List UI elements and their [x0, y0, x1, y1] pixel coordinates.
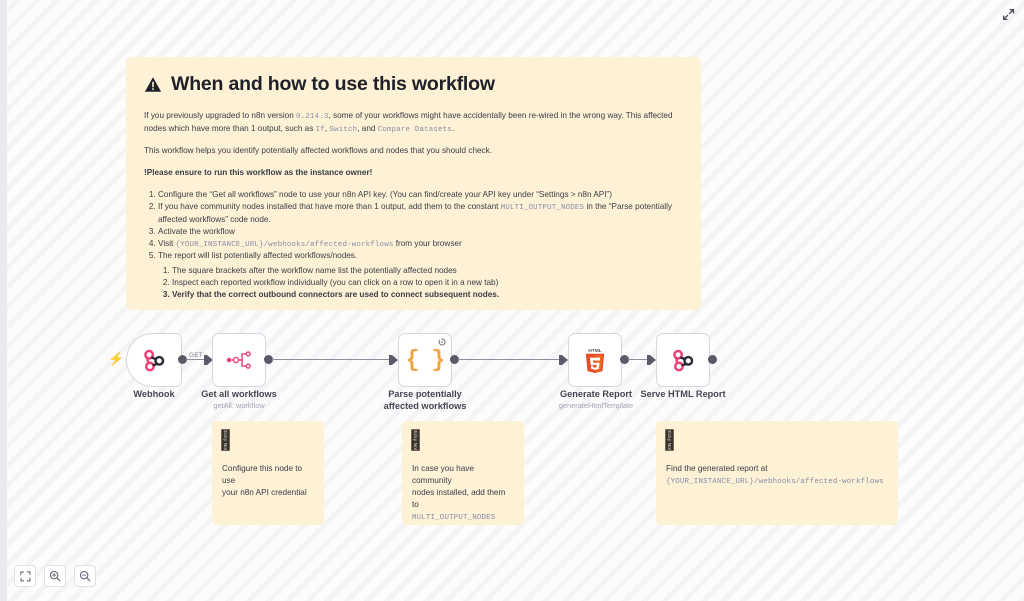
notice-substep-3-text: Verify that the correct outbound connect…: [172, 290, 499, 299]
notice-p1-sep2: , and: [357, 124, 378, 133]
webhook-icon: [670, 347, 696, 373]
code-version: 0.214.3: [296, 113, 328, 121]
notice-substeps-list: The square brackets after the workflow n…: [158, 265, 683, 301]
notice-step-5-text: The report will list potentially affecte…: [158, 251, 357, 260]
warning-triangle-icon: [144, 76, 162, 93]
node-parse-potentially-affected-workflows[interactable]: { }: [398, 333, 452, 387]
webhook-icon: [141, 347, 167, 373]
notice-step-4-text-a: Visit: [158, 239, 176, 248]
sticky-note-api-credential[interactable]: Sticky Note Configure this node to use y…: [212, 421, 324, 525]
code-braces-icon: { }: [406, 347, 444, 373]
notice-paragraph-2: This workflow helps you identify potenti…: [144, 145, 683, 157]
notice-p1-part-a: If you previously upgraded to n8n versio…: [144, 111, 296, 120]
sticky-note-body: Configure this node to use your n8n API …: [222, 463, 314, 499]
canvas-zoom-toolbar[interactable]: [14, 565, 96, 587]
sticky-note-code: MULTI_OUTPUT_NODES: [412, 514, 495, 522]
sticky-note-badge-label: Sticky Note: [413, 429, 418, 451]
sticky-note-line-1: In case you have community: [412, 463, 514, 487]
notice-substep-3: Verify that the correct outbound connect…: [172, 289, 683, 301]
notice-step-1-text: Configure the “Get all workflows” node t…: [158, 190, 612, 199]
sticky-note-body: Find the generated report at {YOUR_INSTA…: [666, 463, 888, 488]
sticky-note-badge-label: Sticky Note: [667, 429, 672, 451]
sticky-note-line-2: your n8n API credential: [222, 487, 314, 499]
notice-substep-2: Inspect each reported workflow individua…: [172, 277, 683, 289]
node-get-all-workflows[interactable]: [212, 333, 266, 387]
fit-to-view-icon[interactable]: [14, 565, 36, 587]
zoom-in-icon[interactable]: [44, 565, 66, 587]
node-label-serve-html-report: Serve HTML Report: [628, 389, 738, 401]
notice-step-3-text: Activate the workflow: [158, 227, 235, 236]
wire-getall-to-parse: [272, 359, 392, 360]
html5-icon: HTML: [583, 347, 607, 373]
notice-paragraph-1: If you previously upgraded to n8n versio…: [144, 110, 683, 135]
page-title: When and how to use this workflow: [171, 73, 495, 96]
notice-step-2-text-a: If you have community nodes installed th…: [158, 202, 501, 211]
notice-title-row: When and how to use this workflow: [144, 73, 683, 96]
workflow-notice-sticky[interactable]: When and how to use this workflow If you…: [126, 57, 701, 310]
code-webhook-url: {YOUR_INSTANCE_URL}/webhooks/affected-wo…: [176, 241, 394, 249]
expand-arrows-icon[interactable]: [998, 4, 1018, 24]
node-webhook[interactable]: [126, 333, 182, 387]
notice-step-3: Activate the workflow: [158, 226, 683, 238]
canvas-left-edge: [0, 0, 7, 601]
sticky-note-line-2: nodes installed, add them to: [412, 487, 514, 511]
node-sublabel-generate-report: generateHtmlTemplate: [538, 402, 654, 411]
sticky-note-body: In case you have community nodes install…: [412, 463, 514, 523]
node-label-parse-potentially-affected-workflows: Parse potentially affected workflows: [372, 389, 478, 412]
zoom-out-icon[interactable]: [74, 565, 96, 587]
endpoint-serve-out[interactable]: [708, 355, 717, 364]
notice-step-1: Configure the “Get all workflows” node t…: [158, 189, 683, 201]
notice-p1-end: .: [452, 124, 454, 133]
wire-label-get: GET: [189, 352, 203, 359]
node-sublabel-get-all-workflows: getAll: workflow: [190, 402, 288, 411]
code-switch: Switch: [329, 126, 357, 134]
code-multi-output-nodes: MULTI_OUTPUT_NODES: [501, 204, 584, 212]
svg-text:HTML: HTML: [588, 348, 601, 354]
sticky-note-badge: Sticky Note: [221, 429, 230, 451]
sticky-note-line-1: Find the generated report at: [666, 463, 888, 475]
notice-steps-list: Configure the “Get all workflows” node t…: [144, 189, 683, 301]
sticky-note-code: {YOUR_INSTANCE_URL}/webhooks/affected-wo…: [666, 478, 884, 486]
sticky-note-badge-label: Sticky Note: [223, 429, 228, 451]
node-serve-html-report[interactable]: [656, 333, 710, 387]
node-generate-report[interactable]: HTML: [568, 333, 622, 387]
sticky-note-badge: Sticky Note: [411, 429, 420, 451]
sticky-note-report-url[interactable]: Sticky Note Find the generated report at…: [656, 421, 898, 525]
node-label-webhook: Webhook: [106, 389, 202, 401]
notice-substep-1-text: The square brackets after the workflow n…: [172, 266, 457, 275]
code-compare-datasets: Compare Datasets: [378, 126, 452, 134]
wire-parse-to-generate: [458, 359, 562, 360]
sticky-note-badge: Sticky Note: [665, 429, 674, 451]
gear-icon[interactable]: [438, 338, 446, 346]
sticky-note-line-1: Configure this node to use: [222, 463, 314, 487]
notice-step-2: If you have community nodes installed th…: [158, 201, 683, 226]
notice-paragraph-3-bold: !Please ensure to run this workflow as t…: [144, 167, 683, 179]
node-label-get-all-workflows: Get all workflows: [190, 389, 288, 401]
notice-substep-2-text: Inspect each reported workflow individua…: [172, 278, 498, 287]
code-if: If: [316, 126, 325, 134]
notice-step-5: The report will list potentially affecte…: [158, 250, 683, 301]
n8n-node-icon: [226, 350, 252, 370]
notice-step-4: Visit {YOUR_INSTANCE_URL}/webhooks/affec…: [158, 238, 683, 251]
sticky-note-community-nodes[interactable]: Sticky Note In case you have community n…: [402, 421, 524, 525]
notice-step-4-text-b: from your browser: [393, 239, 461, 248]
notice-substep-1: The square brackets after the workflow n…: [172, 265, 683, 277]
lightning-bolt-icon: ⚡: [108, 352, 124, 365]
workflow-canvas[interactable]: When and how to use this workflow If you…: [0, 0, 1024, 601]
